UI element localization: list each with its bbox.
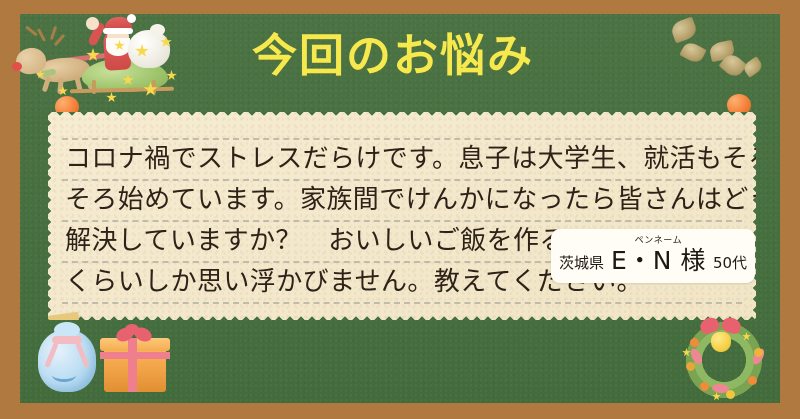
wreath-berry: [748, 376, 757, 385]
wreath-berry: [690, 338, 699, 347]
wreath-berry: [700, 382, 709, 391]
christmas-wreath: [0, 0, 800, 419]
wreath-berry: [686, 362, 695, 371]
screenshot-canvas: 今回のお悩み コロナ禍でストレスだらけです。息子は大学生、就活もそろ そろ始めて…: [0, 0, 800, 419]
wreath-bell-icon: [711, 332, 731, 352]
wreath-berry: [754, 348, 763, 357]
wreath-berry: [726, 390, 735, 399]
